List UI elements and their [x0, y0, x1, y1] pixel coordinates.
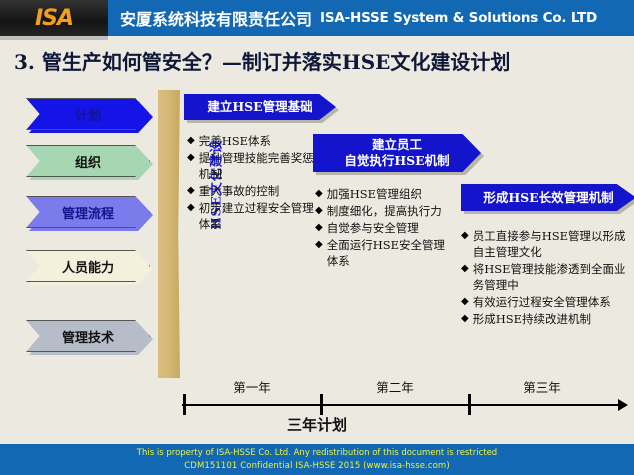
bullet-list-phase-2: ◆ 加强HSE管理组织 ◆ 制度细化，提高执行力 ◆ 自觉参与安全管理 ◆ 全面… [315, 186, 455, 270]
list-item: ◆ 将HSE管理技能渗透到全面业务管理中 [461, 261, 629, 293]
footer-bar: This is property of ISA-HSSE Co. Ltd. An… [0, 444, 634, 475]
diamond-bullet-icon: ◆ [187, 183, 195, 199]
chevron-management-process-label: 管理流程 [62, 203, 114, 222]
diamond-bullet-icon: ◆ [315, 203, 323, 219]
slide-canvas: ISA 安厦系统科技有限责任公司 ISA-HSSE System & Solut… [0, 0, 634, 475]
list-item-text: 全面运行HSE安全管理体系 [327, 237, 455, 269]
list-item-text: 员工直接参与HSE管理以形成自主管理文化 [473, 228, 629, 260]
footer-line-1: This is property of ISA-HSSE Co. Ltd. An… [137, 447, 497, 459]
list-item-text: 初步建立过程安全管理体系 [199, 200, 315, 232]
list-item: ◆ 重大事故的控制 [187, 183, 315, 199]
footer-line-2: CDM151101 Confidential ISA-HSSE 2015 (ww… [184, 460, 449, 472]
timeline-tick-1 [183, 394, 186, 415]
chevron-plan-label: 计划 [75, 105, 101, 124]
timeline-year-3: 第三年 [497, 377, 587, 396]
diamond-bullet-icon: ◆ [187, 133, 195, 149]
banner-phase-3-label: 形成HSE长效管理机制 [483, 190, 613, 206]
chevron-management-technology-label: 管理技术 [62, 327, 114, 346]
timeline-year-1: 第一年 [207, 377, 297, 396]
diamond-bullet-icon: ◆ [461, 311, 469, 327]
bullet-list-phase-1: ◆ 完善HSE体系 ◆ 提升管理技能完善奖惩机制 ◆ 重大事故的控制 ◆ 初步建… [187, 133, 315, 233]
list-item: ◆ 全面运行HSE安全管理体系 [315, 237, 455, 269]
list-item: ◆ 初步建立过程安全管理体系 [187, 200, 315, 232]
list-item: ◆ 完善HSE体系 [187, 133, 315, 149]
banner-phase-2-label-line2: 自觉执行HSE机制 [344, 153, 449, 168]
banner-phase-3[interactable]: 形成HSE长效管理机制 [461, 184, 634, 211]
diamond-bullet-icon: ◆ [315, 186, 323, 202]
banner-phase-1[interactable]: 建立HSE管理基础 [184, 94, 336, 120]
timeline-year-2: 第二年 [350, 377, 440, 396]
list-item-text: 加强HSE管理组织 [327, 186, 422, 202]
list-item-text: 自觉参与安全管理 [327, 220, 419, 236]
chevron-personnel-capability-label: 人员能力 [62, 257, 114, 276]
banner-phase-1-label: 建立HSE管理基础 [207, 99, 312, 115]
diamond-bullet-icon: ◆ [461, 261, 469, 277]
list-item-text: 形成HSE持续改进机制 [473, 311, 591, 327]
chevron-organization[interactable]: 组织 [26, 145, 150, 177]
bullet-list-phase-3: ◆ 员工直接参与HSE管理以形成自主管理文化 ◆ 将HSE管理技能渗透到全面业务… [461, 228, 629, 328]
header-title: 安厦系统科技有限责任公司 ISA-HSSE System & Solutions… [120, 0, 597, 36]
list-item-text: 完善HSE体系 [199, 133, 271, 149]
chevron-management-technology[interactable]: 管理技术 [26, 320, 150, 352]
list-item: ◆ 有效运行过程安全管理体系 [461, 294, 629, 310]
diamond-bullet-icon: ◆ [187, 150, 195, 166]
diamond-bullet-icon: ◆ [315, 237, 323, 253]
chevron-organization-label: 组织 [75, 152, 101, 171]
timeline-tick-2 [320, 394, 323, 415]
header-substrip [0, 36, 108, 40]
list-item-text: 将HSE管理技能渗透到全面业务管理中 [473, 261, 629, 293]
header-title-en: ISA-HSSE System & Solutions Co. LTD [320, 10, 597, 26]
header-title-cn: 安厦系统科技有限责任公司 [120, 6, 312, 30]
chevron-management-process[interactable]: 管理流程 [26, 196, 150, 228]
diamond-bullet-icon: ◆ [461, 294, 469, 310]
timeline-arrow-icon [618, 399, 628, 411]
chevron-plan[interactable]: 计划 [26, 98, 150, 130]
timeline-axis [182, 404, 622, 406]
timeline-caption: 三年计划 [0, 414, 634, 435]
chevron-personnel-capability[interactable]: 人员能力 [26, 250, 150, 282]
diamond-bullet-icon: ◆ [461, 228, 469, 244]
list-item: ◆ 制度细化，提高执行力 [315, 203, 455, 219]
list-item: ◆ 自觉参与安全管理 [315, 220, 455, 236]
banner-phase-2[interactable]: 建立员工 自觉执行HSE机制 [313, 134, 481, 172]
logo-text: ISA [35, 6, 73, 31]
list-item: ◆ 形成HSE持续改进机制 [461, 311, 629, 327]
list-item: ◆ 加强HSE管理组织 [315, 186, 455, 202]
diamond-bullet-icon: ◆ [315, 220, 323, 236]
hse-culture-vertical-bar [158, 90, 180, 378]
timeline-tick-3 [468, 394, 471, 415]
page-title: 3. 管生产如何管安全？—制订并落实HSE文化建设计划 [14, 46, 620, 75]
list-item-text: 有效运行过程安全管理体系 [473, 294, 611, 310]
diamond-bullet-icon: ◆ [187, 200, 195, 216]
isa-logo: ISA [0, 0, 108, 36]
list-item: ◆ 员工直接参与HSE管理以形成自主管理文化 [461, 228, 629, 260]
header-bar: ISA 安厦系统科技有限责任公司 ISA-HSSE System & Solut… [0, 0, 634, 36]
list-item-text: 重大事故的控制 [199, 183, 280, 199]
banner-phase-2-label-line1: 建立员工 [372, 137, 422, 152]
list-item-text: 提升管理技能完善奖惩机制 [199, 150, 315, 182]
list-item-text: 制度细化，提高执行力 [327, 203, 442, 219]
list-item: ◆ 提升管理技能完善奖惩机制 [187, 150, 315, 182]
